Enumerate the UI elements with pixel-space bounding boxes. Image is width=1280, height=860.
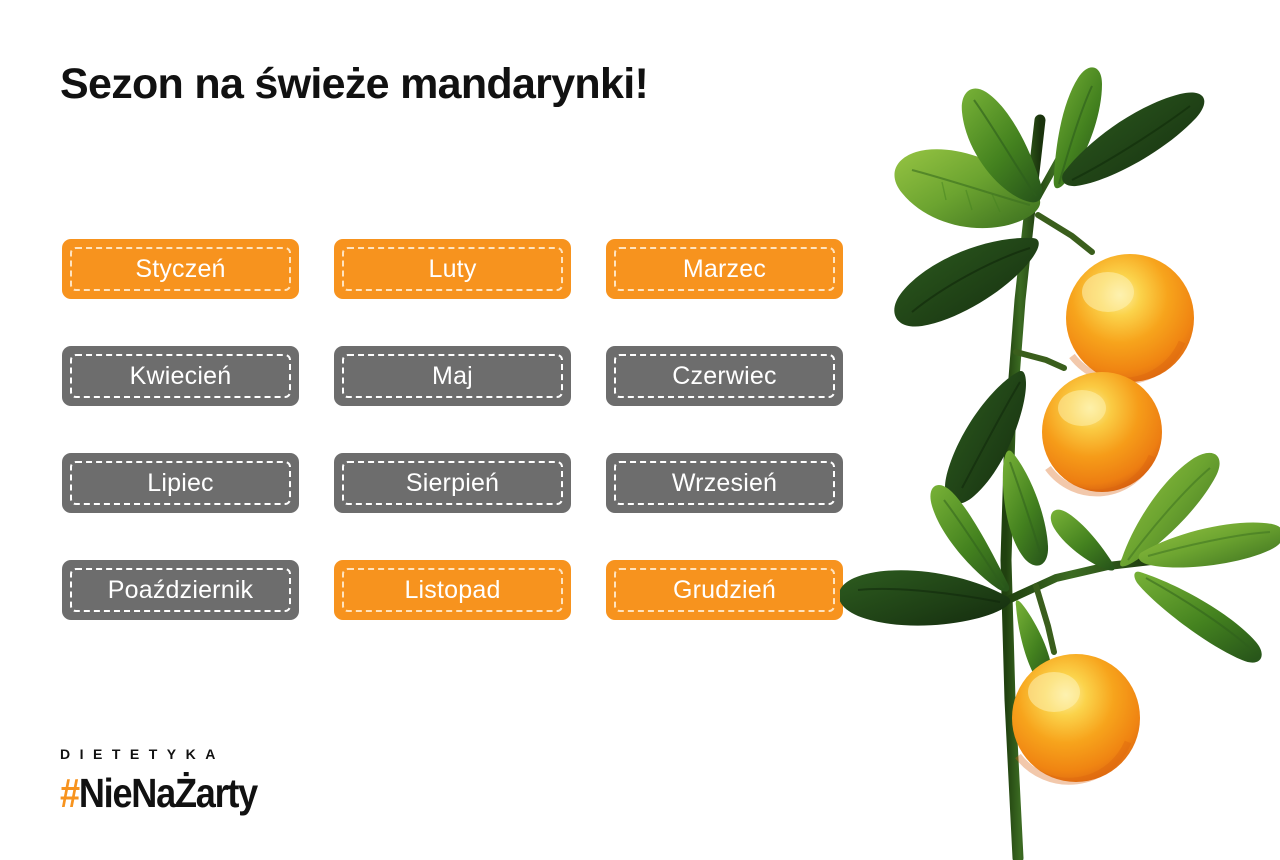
month-label: Listopad [404, 578, 500, 603]
month-badge-listopad[interactable]: Listopad [334, 560, 571, 620]
logo-kicker: DIETETYKA [60, 744, 360, 764]
brand-logo: DIETETYKA #NieNaŻarty [60, 744, 360, 816]
leaf-group-lower-right [1051, 453, 1280, 663]
leaf-icon [1134, 572, 1261, 663]
leaf-icon [840, 570, 1010, 625]
month-badge-czerwiec[interactable]: Czerwiec [606, 346, 843, 406]
lower-branch [1008, 560, 1160, 600]
leaf-group-top [894, 67, 1204, 326]
month-label: Wrzesień [672, 471, 777, 496]
month-label: Marzec [683, 257, 766, 282]
month-grid: Styczeń Luty Marzec Kwiecień Maj Czerwie… [62, 239, 844, 620]
month-label: Poaździernik [108, 578, 254, 603]
month-label: Czerwiec [672, 364, 776, 389]
leaf-icon [1003, 451, 1048, 566]
poster-canvas: Sezon na świeże mandarynki! Styczeń Luty… [0, 0, 1280, 860]
leaf-icon [962, 89, 1043, 203]
fruit-stem-bottom [1036, 586, 1054, 652]
month-badge-maj[interactable]: Maj [334, 346, 571, 406]
leaf-icon [894, 149, 1040, 228]
month-label: Grudzień [673, 578, 776, 603]
month-badge-luty[interactable]: Luty [334, 239, 571, 299]
month-label: Maj [432, 364, 473, 389]
logo-wordmark: #NieNaŻarty [60, 770, 324, 816]
month-badge-lipiec[interactable]: Lipiec [62, 453, 299, 513]
leaf-icon [894, 238, 1038, 327]
mandarin-fruit-middle [1042, 372, 1162, 493]
leaf-icon [1062, 92, 1204, 186]
leaf-icon [930, 485, 1009, 592]
leaf-icon [945, 371, 1026, 504]
month-badge-styczen[interactable]: Styczeń [62, 239, 299, 299]
page-title: Sezon na świeże mandarynki! [60, 58, 880, 110]
leaf-icon [1054, 67, 1102, 188]
month-badge-pazdziernik[interactable]: Poaździernik [62, 560, 299, 620]
month-badge-grudzien[interactable]: Grudzień [606, 560, 843, 620]
month-label: Luty [428, 257, 476, 282]
mandarin-branch-illustration [840, 0, 1280, 860]
leaf-group-middle [945, 371, 1048, 566]
month-label: Sierpień [406, 471, 499, 496]
upper-branch [1036, 112, 1080, 200]
month-label: Styczeń [135, 257, 225, 282]
month-badge-marzec[interactable]: Marzec [606, 239, 843, 299]
month-label: Kwiecień [130, 364, 232, 389]
fruit-stem-middle [1016, 352, 1064, 368]
mandarin-fruit-bottom [1012, 654, 1140, 782]
logo-wordmark-text: NieNaŻarty [79, 770, 257, 816]
leaf-icon [1016, 600, 1053, 685]
leaf-group-lower-left [840, 485, 1052, 685]
main-stem [1006, 120, 1040, 858]
fruit-stem-top [1038, 215, 1092, 252]
hash-icon: # [60, 770, 79, 816]
month-badge-sierpien[interactable]: Sierpień [334, 453, 571, 513]
month-badge-wrzesien[interactable]: Wrzesień [606, 453, 843, 513]
leaf-icon [1139, 522, 1280, 567]
mandarin-fruit-top [1066, 254, 1194, 382]
leaf-icon [1120, 453, 1220, 567]
month-label: Lipiec [147, 471, 214, 496]
month-badge-kwiecien[interactable]: Kwiecień [62, 346, 299, 406]
leaf-icon [1051, 510, 1115, 571]
